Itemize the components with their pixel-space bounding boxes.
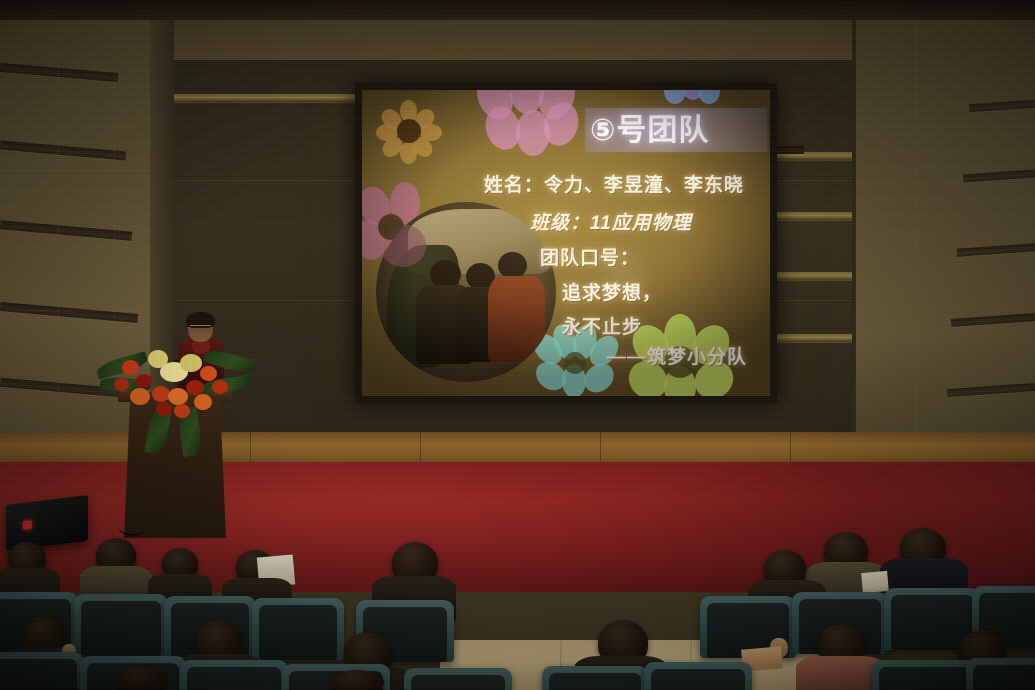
flower-bloom	[200, 366, 217, 381]
flower-bloom	[136, 374, 152, 388]
slide-text-block: ⑤号团队 姓名：令力、李昱潼、李东晓 班级：11应用物理 团队口号： 追求梦想，…	[362, 90, 770, 396]
flower-bloom	[194, 394, 212, 410]
flower-arrangement	[96, 332, 256, 444]
slide-line-names: 姓名：令力、李昱潼、李东晓	[484, 170, 744, 197]
flower-bloom	[174, 404, 190, 418]
panel-seam	[856, 124, 1035, 125]
theater-seat[interactable]	[74, 594, 168, 656]
projection-screen-frame: ⑤号团队 姓名：令力、李昱潼、李东晓 班级：11应用物理 团队口号： 追求梦想，…	[355, 83, 777, 403]
theater-seat[interactable]	[966, 658, 1035, 690]
slide-line-signature: ——筑梦小分队	[607, 342, 747, 369]
wall-slat	[951, 313, 1035, 327]
slide-line-class: 班级：11应用物理	[530, 208, 692, 235]
wall-slat	[969, 100, 1035, 113]
back-wall-upper	[172, 20, 858, 64]
wall-slat	[0, 220, 132, 240]
lily-bloom	[180, 354, 202, 372]
slide-line-motto-label: 团队口号：	[540, 243, 640, 270]
theater-seat[interactable]	[252, 598, 344, 660]
theater-seat[interactable]	[180, 660, 288, 690]
audience-area	[0, 520, 1035, 690]
flower-bloom	[212, 380, 228, 394]
flower-bloom	[156, 402, 172, 416]
wall-slat	[947, 383, 1035, 397]
flower-bloom	[130, 388, 150, 405]
wall-slat	[0, 302, 138, 323]
auditorium-photo: ⑤号团队 姓名：令力、李昱潼、李东晓 班级：11应用物理 团队口号： 追求梦想，…	[0, 0, 1035, 690]
slide-line-motto-1: 追求梦想，	[562, 278, 662, 305]
panel-seam	[916, 20, 917, 440]
flower-bloom	[122, 360, 139, 375]
panel-seam	[0, 170, 172, 171]
panel-seam	[58, 20, 59, 440]
audience-head	[330, 670, 384, 690]
flower-bloom	[114, 378, 129, 391]
slide-title: ⑤号团队	[590, 112, 768, 150]
wall-slat	[0, 63, 118, 82]
theater-seat[interactable]	[872, 660, 978, 690]
wall-slat	[0, 141, 126, 161]
flower-bloom	[186, 380, 204, 395]
theater-seat[interactable]	[644, 662, 752, 690]
slide-line-motto-2: 永不止步	[562, 312, 642, 339]
glasses-icon	[190, 325, 211, 331]
theater-seat[interactable]	[0, 652, 84, 690]
wall-slat	[957, 243, 1035, 256]
audience-head	[116, 666, 168, 690]
flower-bloom	[168, 388, 188, 405]
theater-seat[interactable]	[404, 668, 512, 690]
panel-seam	[856, 232, 1035, 233]
wall-slat	[963, 169, 1035, 182]
right-wall	[856, 20, 1035, 440]
audience-paper	[861, 571, 889, 593]
projection-screen: ⑤号团队 姓名：令力、李昱潼、李东晓 班级：11应用物理 团队口号： 追求梦想，…	[362, 90, 770, 396]
theater-seat[interactable]	[542, 666, 648, 690]
panel-seam	[856, 340, 1035, 341]
panel-seam	[0, 310, 172, 311]
